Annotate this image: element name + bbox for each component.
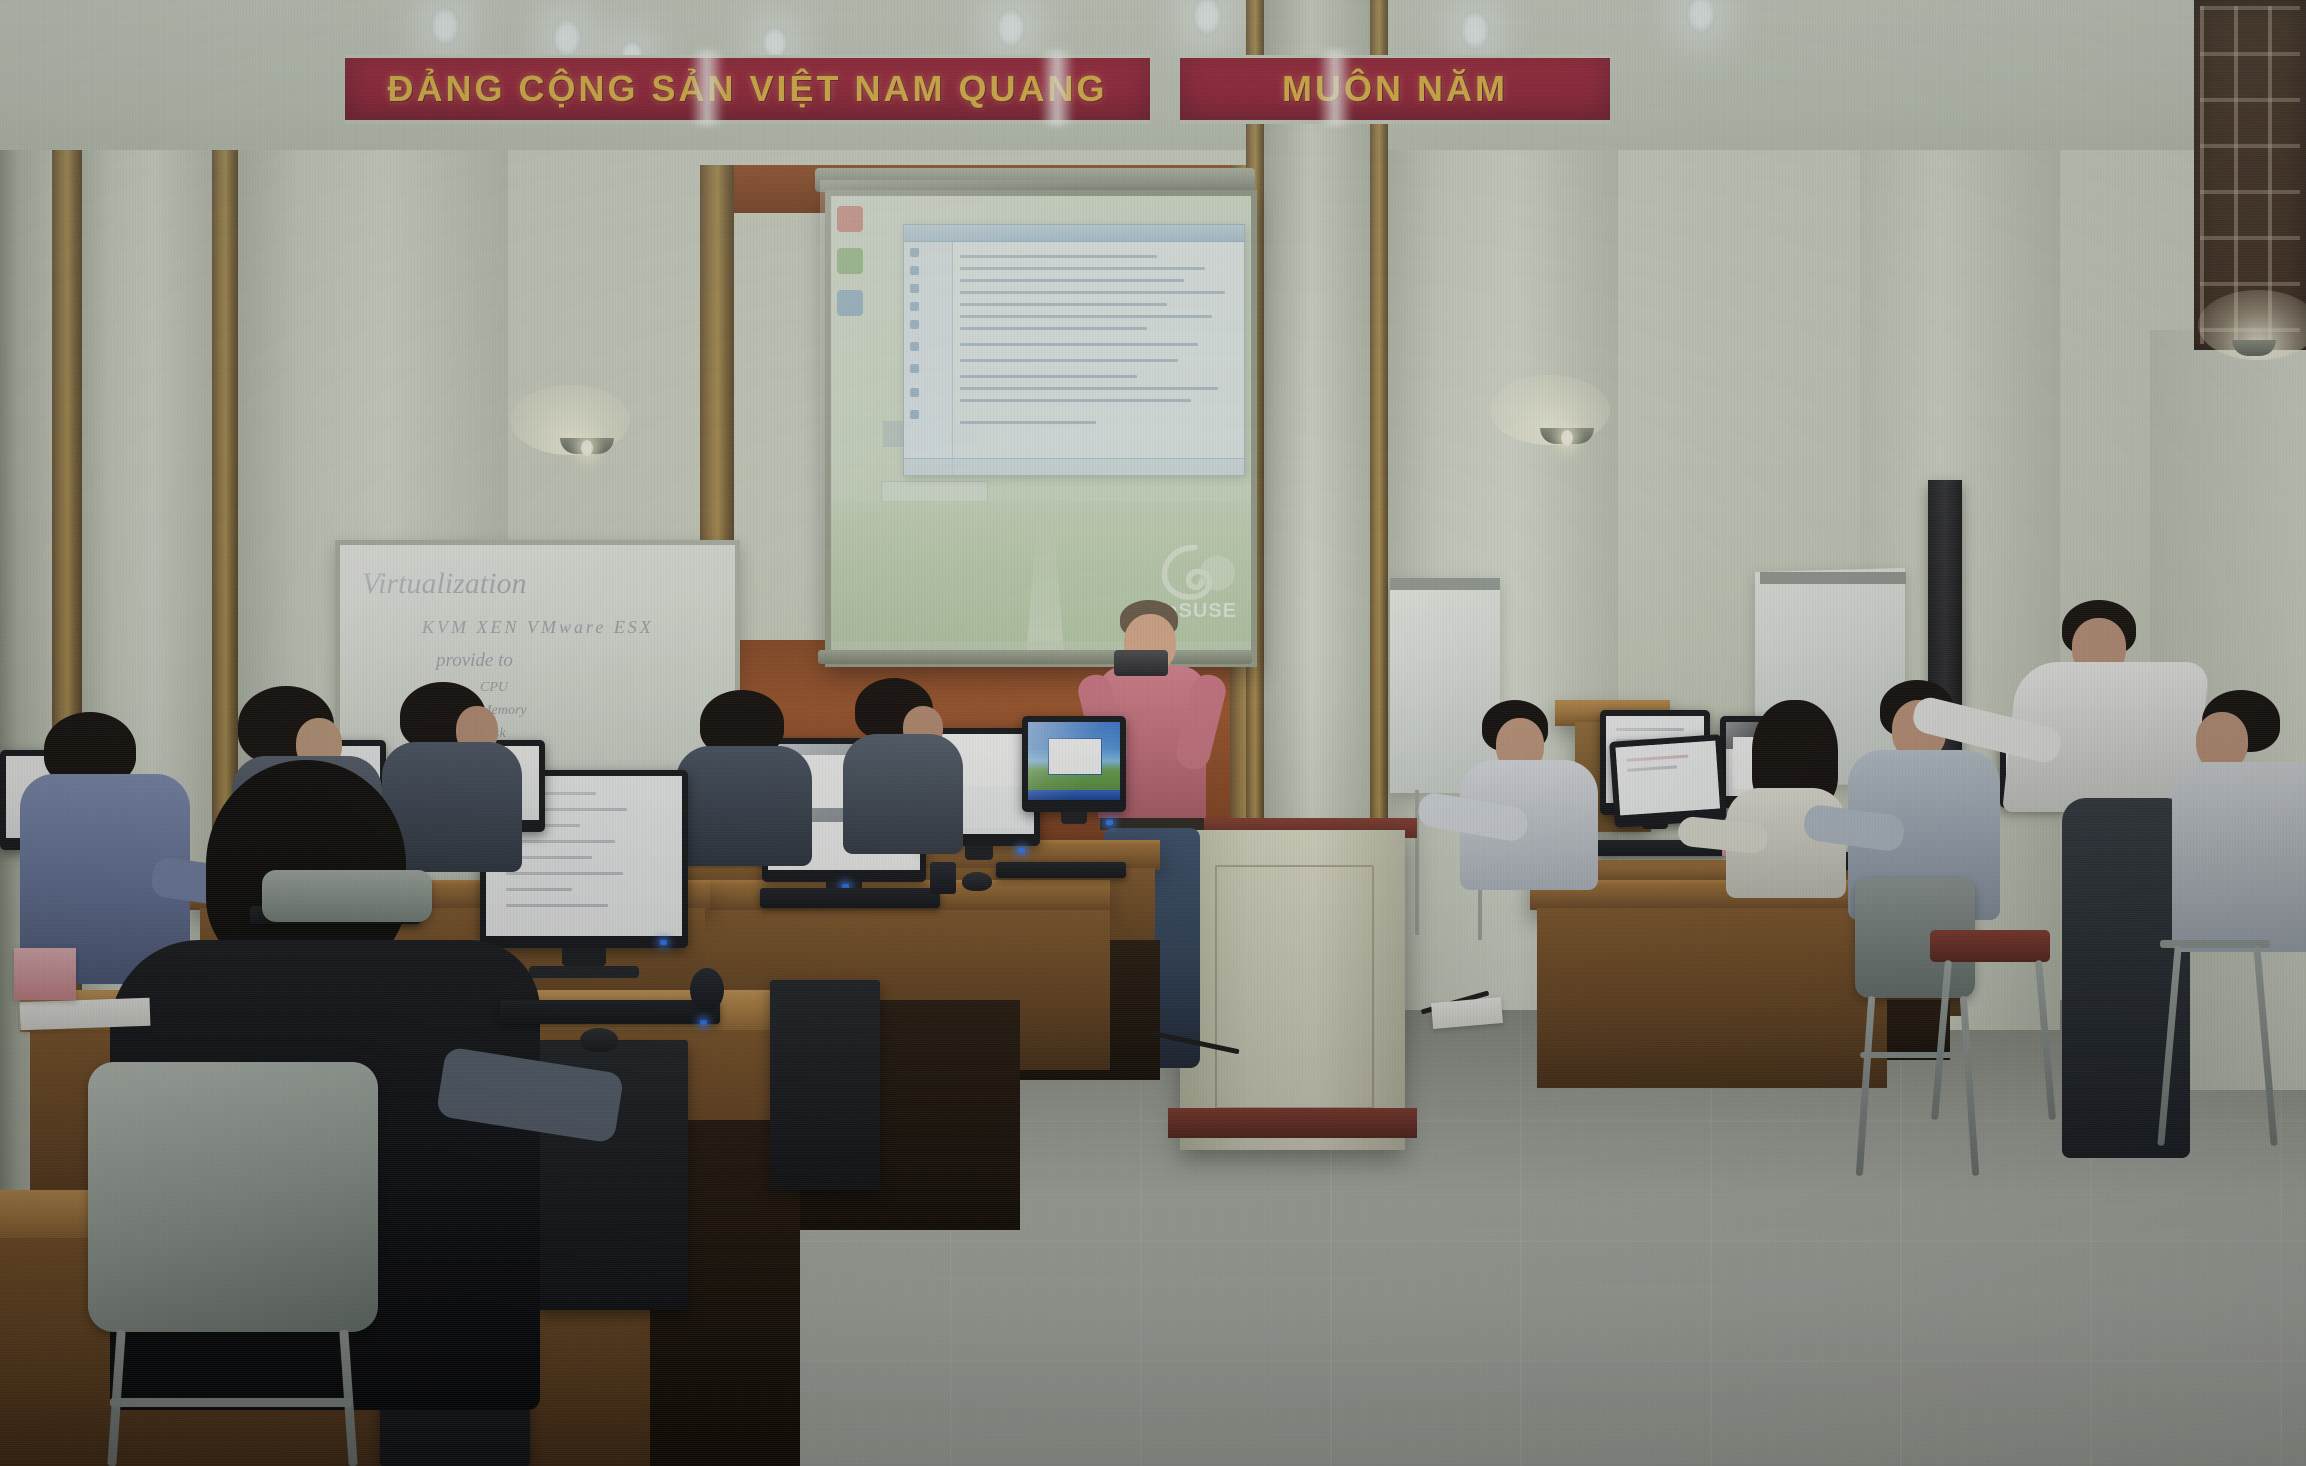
center-pillar [1262, 0, 1372, 880]
text-line [960, 315, 1212, 318]
sidebar-icon [910, 388, 919, 397]
ceiling-light [430, 6, 460, 46]
paper-sheet [20, 998, 151, 1031]
text-line [960, 303, 1167, 306]
keyboard-mid-2[interactable] [996, 862, 1126, 878]
text-line [960, 279, 1184, 282]
text-line [960, 327, 1147, 330]
banner-glare [1040, 50, 1074, 126]
text-line [960, 387, 1218, 390]
ceiling-light [552, 18, 582, 58]
monitor-power-led [660, 940, 667, 945]
projected-window-statusbar [904, 458, 1244, 475]
text-line [960, 421, 1096, 424]
screen-roller [815, 168, 1255, 192]
monitor-base [529, 966, 639, 978]
launcher-icon-green [837, 248, 863, 274]
text-line [960, 399, 1191, 402]
monitor-power-led [1018, 848, 1025, 853]
legs [2062, 798, 2190, 1158]
screen-bottom-bar [818, 650, 1252, 664]
ceiling-light [996, 8, 1026, 48]
monitor-right-laptop [1609, 734, 1727, 828]
sconce-bulb-left [581, 440, 593, 456]
screen-text-line [1616, 728, 1685, 731]
chair-rail [1860, 1052, 1972, 1058]
launcher-icon-red [837, 206, 863, 232]
monitor-screen [1028, 722, 1120, 800]
monitor-mid-3 [1022, 716, 1126, 812]
classroom-photo: ĐẢNG CỘNG SẢN VIỆT NAM QUANG MUÔN NĂM [0, 0, 2306, 1466]
sidebar-icon [910, 266, 919, 275]
banner-glare [690, 50, 724, 126]
text-line [960, 375, 1137, 378]
party-banner-right: MUÔN NĂM [1180, 55, 1610, 124]
wood-column-center-b [1370, 0, 1388, 860]
torso [843, 734, 963, 854]
sidebar-icon [910, 364, 919, 373]
screen-document [1616, 741, 1720, 816]
pedestal-plinth [1168, 1108, 1417, 1138]
opensuse-geeko-icon [1153, 541, 1237, 605]
screen-taskbar [1028, 790, 1120, 800]
sidebar-icon [910, 284, 919, 293]
sconce-bulb-right [1561, 430, 1573, 446]
projected-window-titlebar [904, 225, 1244, 242]
pc-tower-mid [770, 980, 880, 1190]
text-line [960, 255, 1157, 258]
keyboard-front[interactable] [500, 1000, 720, 1024]
screen-text-line [506, 888, 573, 891]
mouse-mid[interactable] [962, 872, 992, 891]
screen-windows-xp-wallpaper [1028, 722, 1120, 800]
chair-right-2-seat[interactable] [1930, 930, 2050, 962]
pink-folder [14, 948, 76, 1000]
keyboard-mid-1[interactable] [760, 888, 940, 908]
screen-window-white [1048, 738, 1102, 776]
monitor-stand [1061, 812, 1087, 824]
projected-terminal-window [903, 224, 1245, 476]
sidebar-icon [910, 410, 919, 419]
sidebar-icon [910, 342, 919, 351]
screen-text-line [506, 904, 608, 907]
mouse-front[interactable] [580, 1028, 618, 1052]
torso [2172, 762, 2306, 952]
chair-rail [110, 1398, 352, 1407]
banner-glare [1318, 50, 1352, 126]
monitor-screen [1616, 741, 1720, 816]
text-line [960, 267, 1205, 270]
launcher-icon-blue [837, 290, 863, 316]
chair-front-left[interactable] [88, 1062, 378, 1332]
pedestal-inset-panel [1215, 865, 1374, 1109]
sidebar-icon [910, 302, 919, 311]
chair-mid-left[interactable] [262, 870, 432, 922]
monitor-stand [562, 948, 606, 966]
desk-right-front-panel [1537, 908, 1887, 1088]
text-line [960, 359, 1178, 362]
banner-right-text: MUÔN NĂM [1282, 68, 1508, 110]
speaker-front [690, 968, 724, 1012]
party-banner-left: ĐẢNG CỘNG SẢN VIỆT NAM QUANG [345, 55, 1150, 124]
flipchart-right-clip [1760, 572, 1906, 584]
speaker-led [700, 1020, 707, 1025]
ceiling-light [1460, 10, 1490, 50]
sidebar-icon [910, 320, 919, 329]
monitor-power-led [1106, 820, 1113, 825]
projected-launcher [837, 206, 889, 466]
screen-text-line [1626, 755, 1688, 762]
sidebar-icon [910, 248, 919, 257]
screen-text-line [506, 872, 624, 875]
projection-surface: openSUSE [831, 196, 1251, 661]
flipchart-left-clip [1390, 578, 1500, 590]
speaker-mid [930, 862, 956, 894]
torso [676, 746, 812, 866]
monitor-stand [965, 846, 993, 860]
camera-device [1114, 650, 1168, 676]
banner-left-text: ĐẢNG CỘNG SẢN VIỆT NAM QUANG [387, 68, 1107, 110]
screen-text-line [506, 840, 616, 843]
hair [206, 760, 406, 970]
screen-text-line [1627, 765, 1677, 771]
projected-window-sidebar [904, 242, 953, 475]
text-line [960, 291, 1225, 294]
text-line [960, 343, 1198, 346]
projection-screen: openSUSE [825, 190, 1257, 667]
